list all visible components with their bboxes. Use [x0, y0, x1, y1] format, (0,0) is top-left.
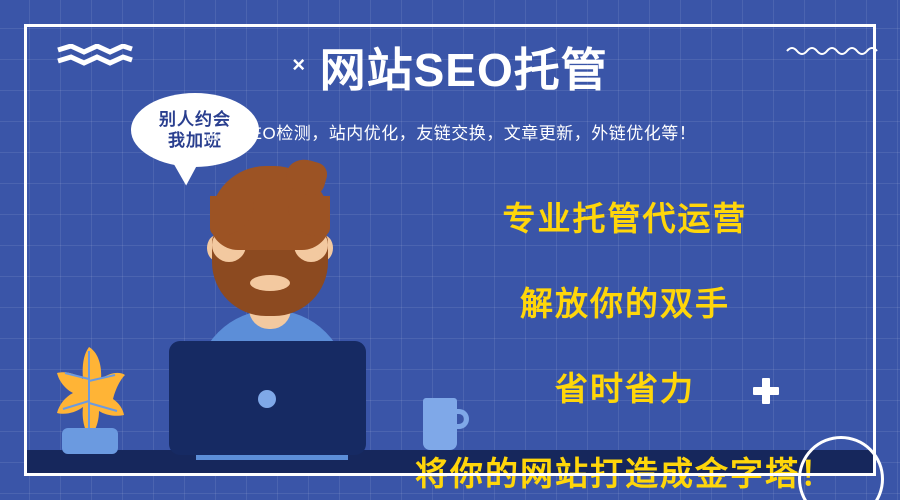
character-mouth — [250, 275, 290, 291]
plant-pot — [62, 428, 118, 454]
laptop-logo-icon — [258, 390, 276, 408]
slogan-list: 专业托管代运营 解放你的双手 省时省力 将你的网站打造成金字塔！ — [370, 192, 880, 495]
title-text: 网站SEO托管 — [320, 47, 608, 93]
title-cross-icon: × — [292, 54, 305, 76]
slogan-line: 省时省力 — [370, 362, 880, 410]
page-title: × 网站SEO托管 — [0, 47, 900, 93]
seo-hosting-banner: 别人约会 我加班 × 网站SEO托管 含：SEO检测，站内优化，友链交换，文章更… — [0, 0, 900, 500]
slogan-line: 专业托管代运营 — [370, 192, 880, 240]
slogan-line: 解放你的双手 — [370, 277, 880, 325]
subtitle-text: 含：SEO检测，站内优化，友链交换，文章更新，外链优化等！ — [0, 119, 900, 144]
